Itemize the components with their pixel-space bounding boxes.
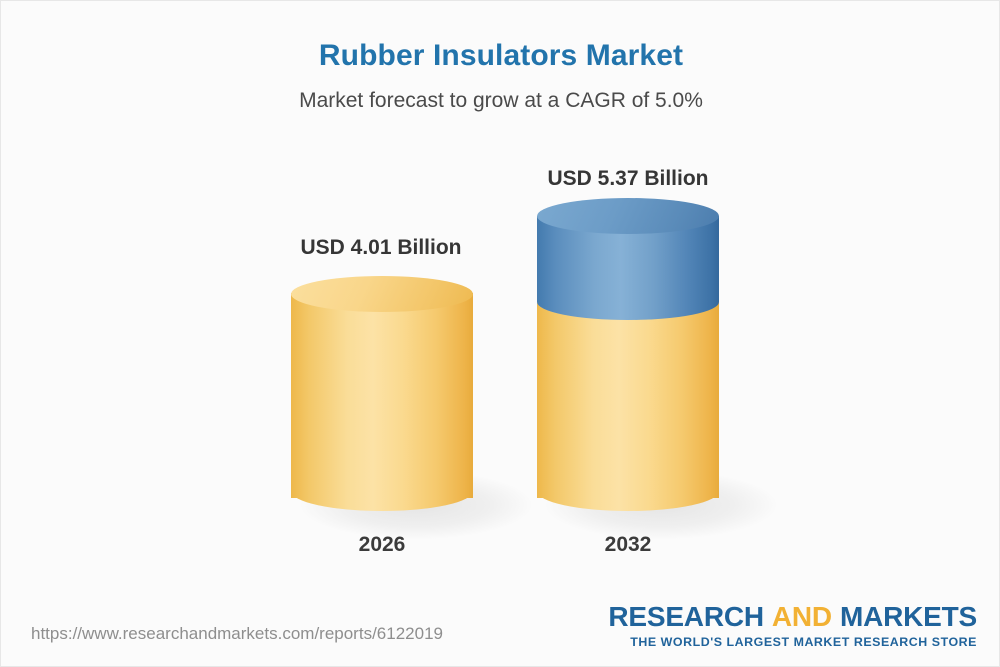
cylinder-top-2026	[291, 276, 473, 312]
category-label-2032: 2032	[468, 533, 788, 557]
cylinder-growth-top-2032	[537, 198, 719, 234]
brand-logo: RESEARCHANDMARKETS THE WORLD'S LARGEST M…	[608, 603, 977, 648]
value-label-2032: USD 5.37 Billion	[468, 167, 788, 191]
logo-wordmark: RESEARCHANDMARKETS	[608, 603, 977, 631]
chart-plot-area: USD 4.01 Billion 2026 USD 5.37 Billion	[1, 1, 1000, 601]
cylinder-body-2026	[291, 293, 473, 498]
logo-word-markets: MARKETS	[840, 601, 977, 632]
logo-word-and: AND	[772, 601, 832, 632]
value-label-2026: USD 4.01 Billion	[221, 236, 541, 260]
cylinder-base-body-2032	[537, 301, 719, 498]
chart-page: Rubber Insulators Market Market forecast…	[0, 0, 1000, 667]
cylinder-bottom-2032	[537, 471, 719, 511]
logo-word-research: RESEARCH	[608, 601, 764, 632]
cylinder-bottom-2026	[291, 471, 473, 511]
cylinder-growth-bottom-2032	[537, 284, 719, 320]
report-url[interactable]: https://www.researchandmarkets.com/repor…	[31, 624, 443, 644]
logo-tagline: THE WORLD'S LARGEST MARKET RESEARCH STOR…	[608, 636, 977, 648]
